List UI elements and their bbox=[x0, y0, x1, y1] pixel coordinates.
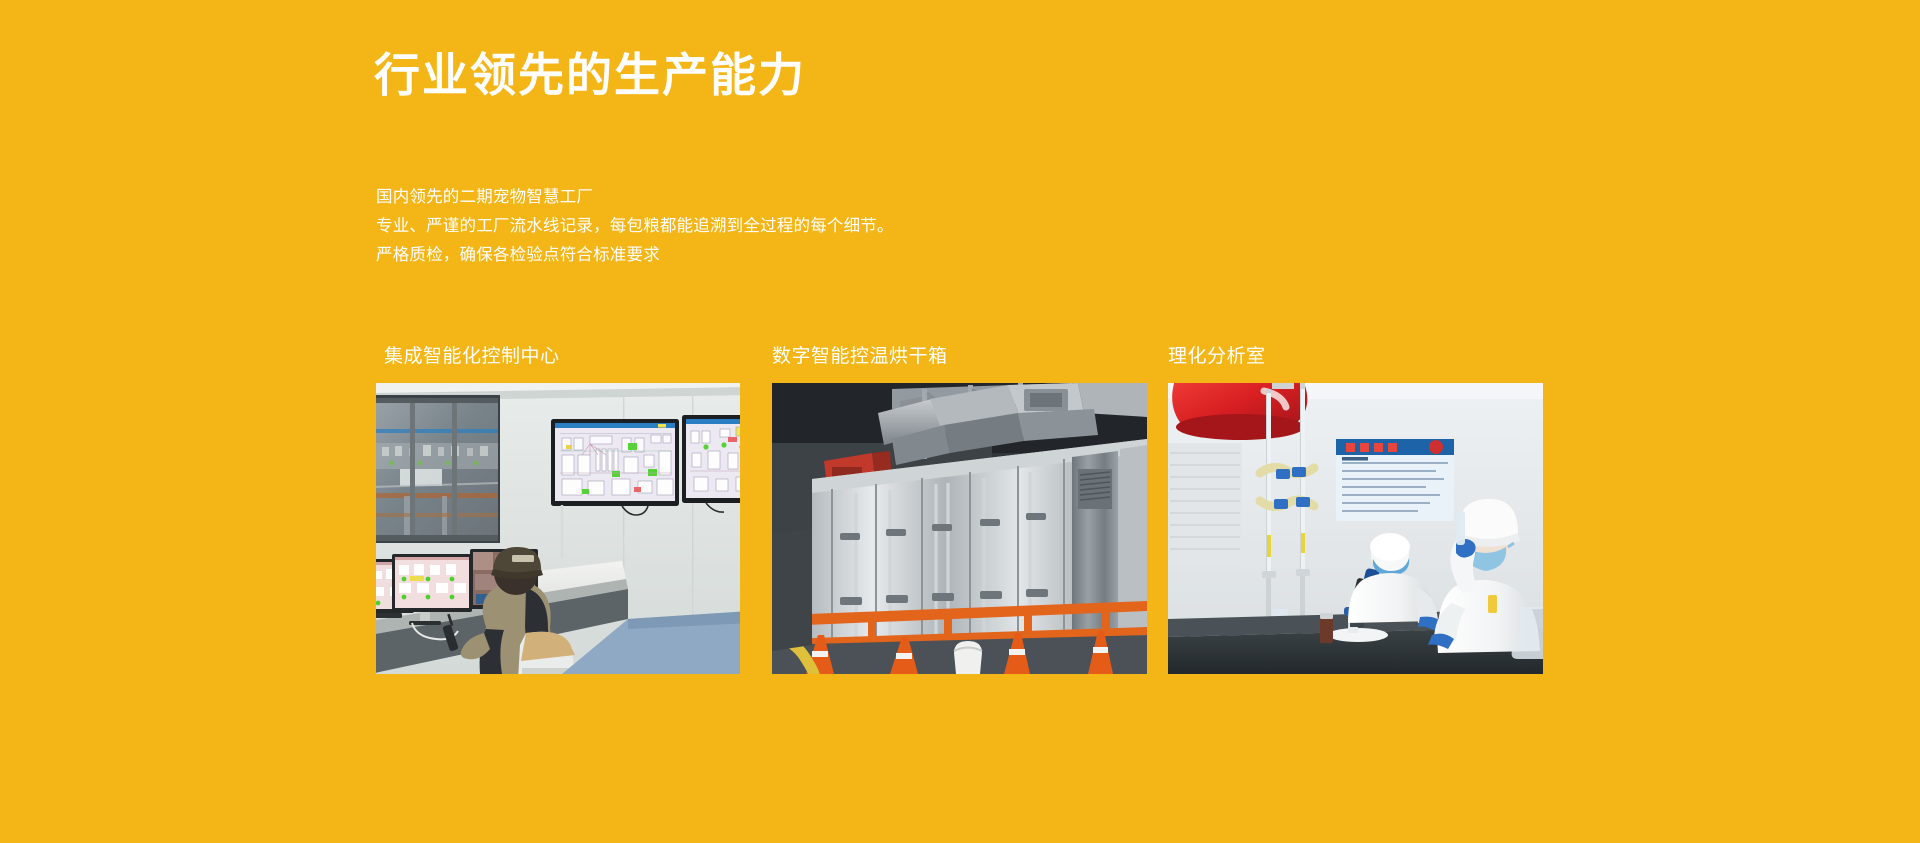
page-title: 行业领先的生产能力 bbox=[374, 50, 806, 101]
subtitle-line-2: 专业、严谨的工厂流水线记录，每包粮都能追溯到全过程的每个细节。 bbox=[376, 212, 894, 241]
gallery-card-laboratory: 理化分析室 bbox=[1168, 345, 1543, 674]
gallery-caption-drying-oven: 数字智能控温烘干箱 bbox=[772, 345, 1147, 383]
promo-banner: 行业领先的生产能力 国内领先的二期宠物智慧工厂 专业、严谨的工厂流水线记录，每包… bbox=[0, 0, 1920, 843]
gallery-caption-laboratory: 理化分析室 bbox=[1168, 345, 1543, 383]
gallery: 集成智能化控制中心 bbox=[376, 345, 1544, 674]
drying-oven-photo bbox=[772, 383, 1147, 674]
control-room-photo bbox=[376, 383, 751, 674]
subtitle-line-3: 严格质检，确保各检验点符合标准要求 bbox=[376, 241, 894, 270]
gallery-caption-control-room: 集成智能化控制中心 bbox=[376, 345, 751, 383]
subtitle-line-1: 国内领先的二期宠物智慧工厂 bbox=[376, 183, 894, 212]
gallery-card-control-room: 集成智能化控制中心 bbox=[376, 345, 751, 674]
hero-subtitle: 国内领先的二期宠物智慧工厂 专业、严谨的工厂流水线记录，每包粮都能追溯到全过程的… bbox=[376, 183, 894, 270]
laboratory-photo bbox=[1168, 383, 1543, 674]
gallery-card-drying-oven: 数字智能控温烘干箱 bbox=[772, 345, 1147, 674]
